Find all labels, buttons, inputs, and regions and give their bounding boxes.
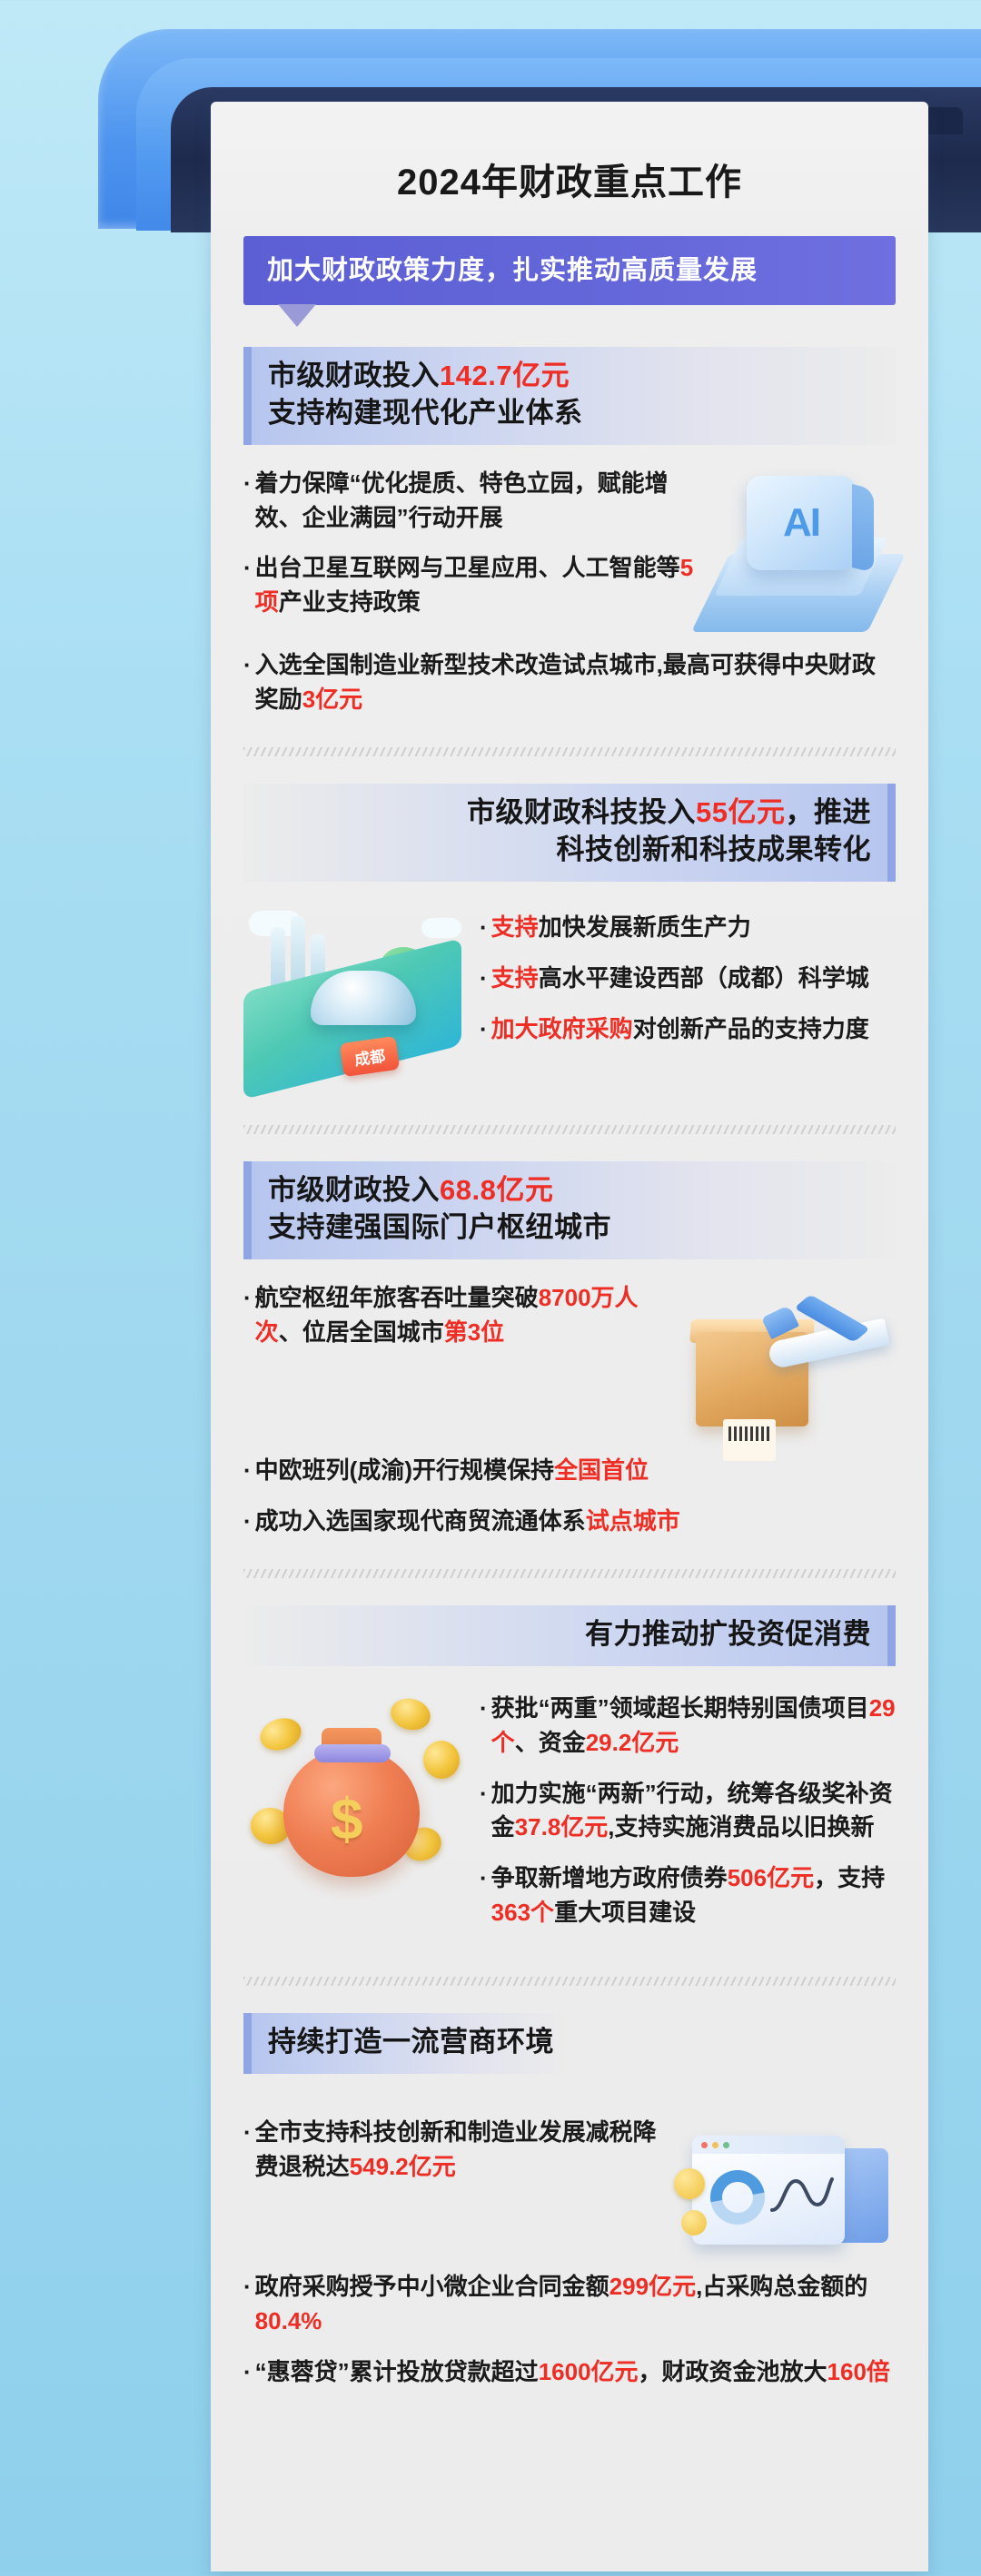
coin-icon [256,1713,305,1756]
list-item: · “惠蓉贷”累计投放贷款超过1600亿元，财政资金池放大160倍 [243,2355,896,2390]
body-text: 中欧班列(成渝)开行规模保持 [255,1456,554,1484]
bullet-text: 成功入选国家现代商贸流通体系试点城市 [255,1505,896,1539]
bag-tie [314,1744,391,1762]
bullet-marker-icon: · [243,1454,252,1488]
list-item: · 争取新增地方政府债券506亿元，支持363个重大项目建设 [480,1861,896,1930]
bullet-marker-icon: · [480,1861,488,1896]
bullet-text: 政府采购授予中小微企业合同金额299亿元,占采购总金额的80.4% [255,2270,896,2338]
body-text: 获批“两重”领域超长期特别国债项目 [491,1694,869,1722]
section-hub: 市级财政投入68.8亿元 支持建强国际门户枢纽城市 · 航空枢纽年旅客吞吐量突破… [211,1161,928,1538]
highlight-value: 1600亿元 [539,2358,639,2385]
body-text: 产业支持政策 [279,588,421,616]
bullet-marker-icon: · [480,1692,488,1726]
highlight-value: 80.4% [255,2307,322,2334]
bullet-text: “惠蓉贷”累计投放贷款超过1600亿元，财政资金池放大160倍 [255,2355,896,2390]
ai-text-icon: AI [747,476,856,570]
bullet-marker-icon: · [243,2116,252,2150]
bullet-marker-icon: · [243,551,252,586]
bullet-text: 入选全国制造业新型技术改造试点城市,最高可获得中央财政奖励3亿元 [255,648,896,716]
poster-card: 2024年财政重点工作 加大财政政策力度，扎实推动高质量发展 市级财政投入142… [211,102,928,2571]
body-text: 高水平建设西部（成都）科学城 [539,964,869,992]
bullet-marker-icon: · [480,911,488,945]
body-text: 出台卫星互联网与卫星应用、人工智能等 [255,554,680,581]
section-divider [243,1569,896,1578]
list-item: · 出台卫星互联网与卫星应用、人工智能等5项产业支持政策 [243,551,696,619]
list-item: · 政府采购授予中小微企业合同金额299亿元,占采购总金额的80.4% [243,2270,896,2338]
heading-line2: 科技创新和科技成果转化 [557,834,872,865]
body-text: 政府采购授予中小微企业合同金额 [255,2273,609,2300]
body-text: ,支持实施消费品以旧换新 [608,1813,874,1841]
bullet-list-hub-cont: · 中欧班列(成渝)开行规模保持全国首位 · 成功入选国家现代商贸流通体系试点城… [243,1454,896,1538]
dollar-sign-icon: $ [331,1790,363,1848]
bullet-text: 中欧班列(成渝)开行规模保持全国首位 [255,1454,896,1488]
body-text: 、资金 [515,1729,586,1756]
section-heading-business: 持续打造一流营商环境 [243,2013,569,2074]
bullet-text: 支持高水平建设西部（成都）科学城 [491,962,896,996]
body-text: 对创新产品的支持力度 [633,1015,869,1042]
body-text: 成功入选国家现代商贸流通体系 [255,1507,586,1535]
highlight-value: 试点城市 [586,1507,680,1535]
money-bag-icon: $ [243,1688,471,1897]
page-title: 2024年财政重点工作 [211,102,928,236]
bullet-text: 获批“两重”领域超长期特别国债项目29个、资金29.2亿元 [491,1692,896,1760]
heading-line2: 支持构建现代化产业体系 [268,397,583,429]
airplane-icon [758,1290,894,1390]
section-heading-science: 市级财政科技投入55亿元，推进 科技创新和科技成果转化 [243,784,896,882]
highlight-value: 506亿元 [728,1864,814,1891]
chart-window-icon [687,2116,896,2270]
body-text: 重大项目建设 [554,1899,696,1926]
bullet-marker-icon: · [243,1505,252,1539]
bullet-marker-icon: · [243,2270,252,2305]
cloud-icon [421,918,461,938]
section-invest: 有力推动扩投资促消费 $ · [211,1605,928,1946]
list-item: · 加力实施“两新”行动，统筹各级奖补资金37.8亿元,支持实施消费品以旧换新 [480,1777,896,1845]
highlight-value: 29.2亿元 [586,1729,679,1756]
ai-cube-icon: AI [705,467,896,648]
section-heading-hub: 市级财政投入68.8亿元 支持建强国际门户枢纽城市 [243,1161,896,1259]
heading-amount: 55亿元 [696,796,785,828]
body-text: ，财政资金池放大 [639,2358,827,2385]
list-item: · 全市支持科技创新和制造业发展减税降费退税达549.2亿元 [243,2116,678,2184]
heading-line2: 有力推动扩投资促消费 [585,1618,871,1650]
section-divider [243,747,896,756]
section-divider [243,1125,896,1134]
heading-amount: 68.8亿元 [440,1174,553,1206]
plane-tail [761,1305,799,1339]
bullet-list-invest: · 获批“两重”领域超长期特别国债项目29个、资金29.2亿元 · 加力实施“两… [480,1692,896,1930]
highlight-value: 160倍 [827,2358,890,2385]
list-item: · 加大政府采购对创新产品的支持力度 [480,1012,896,1047]
list-item: · 中欧班列(成渝)开行规模保持全国首位 [243,1454,896,1488]
bullet-text: 支持加快发展新质生产力 [491,911,896,945]
body-text: 着力保障“优化提质、特色立园，赋能增效、企业满园”行动开展 [255,469,669,531]
bullet-text: 全市支持科技创新和制造业发展减税降费退税达549.2亿元 [255,2116,678,2184]
highlight-value: 全国首位 [554,1456,649,1484]
bullet-text: 加力实施“两新”行动，统筹各级奖补资金37.8亿元,支持实施消费品以旧换新 [491,1777,896,1845]
bullet-marker-icon: · [480,1012,488,1047]
coin-icon [421,1739,461,1781]
heading-line2: 持续打造一流营商环境 [268,2026,554,2058]
bullet-list-industry-cont: · 入选全国制造业新型技术改造试点城市,最高可获得中央财政奖励3亿元 [243,648,896,716]
bullet-marker-icon: · [243,2355,252,2390]
highlight-value: 加大政府采购 [491,1015,633,1042]
heading-prefix: 市级财政投入 [268,360,440,391]
barcode-label-icon [723,1419,776,1461]
bullet-text: 航空枢纽年旅客吞吐量突破8700万人次、位居全国城市第3位 [255,1281,678,1349]
list-item: · 获批“两重”领域超长期特别国债项目29个、资金29.2亿元 [480,1692,896,1760]
highlight-value: 支持 [491,913,539,941]
section-business: 持续打造一流营商环境 · 全市支持科技创新和制造业发展减税降费退税达549.2亿… [211,2013,928,2389]
section-science: 市级财政科技投入55亿元，推进 科技创新和科技成果转化 成都 [211,784,928,1094]
science-city-icon: 成都 [243,903,471,1094]
highlight-value: 37.8亿元 [515,1813,609,1841]
list-item: · 着力保障“优化提质、特色立园，赋能增效、企业满园”行动开展 [243,467,696,535]
bullet-list-industry: · 着力保障“优化提质、特色立园，赋能增效、企业满园”行动开展 · 出台卫星互联… [243,467,696,620]
highlight-value: 363个 [491,1899,554,1926]
section-industry: 市级财政投入142.7亿元 支持构建现代化产业体系 · 着力保障“优化提质、特色… [211,347,928,716]
list-item: · 支持加快发展新质生产力 [480,911,896,945]
list-item: · 成功入选国家现代商贸流通体系试点城市 [243,1505,896,1539]
heading-prefix: 市级财政科技投入 [467,796,696,828]
section-heading-invest: 有力推动扩投资促消费 [243,1605,896,1666]
bullet-list-hub: · 航空枢纽年旅客吞吐量突破8700万人次、位居全国城市第3位 [243,1281,678,1349]
cargo-plane-icon [687,1281,896,1454]
highlight-value: 支持 [491,964,539,992]
heading-line2: 支持建强国际门户枢纽城市 [268,1211,611,1243]
highlight-value: 第3位 [444,1318,504,1346]
bullet-marker-icon: · [243,648,252,683]
coin-icon [388,1695,434,1735]
main-banner: 加大财政政策力度，扎实推动高质量发展 [243,236,896,305]
highlight-value: 549.2亿元 [350,2153,456,2180]
bullet-list-business: · 全市支持科技创新和制造业发展减税降费退税达549.2亿元 [243,2116,678,2184]
list-item: · 航空枢纽年旅客吞吐量突破8700万人次、位居全国城市第3位 [243,1281,678,1349]
highlight-value: 3亿元 [302,686,362,713]
bullet-marker-icon: · [480,962,488,996]
body-text: 航空枢纽年旅客吞吐量突破 [255,1284,539,1311]
city-tag-label: 成都 [340,1036,401,1077]
bullet-marker-icon: · [243,1281,252,1316]
section-heading-industry: 市级财政投入142.7亿元 支持构建现代化产业体系 [243,347,896,445]
bullet-marker-icon: · [243,467,252,501]
highlight-value: 299亿元 [609,2273,696,2300]
body-text: 加快发展新质生产力 [539,913,751,941]
bullet-text: 加大政府采购对创新产品的支持力度 [491,1012,896,1047]
body-text: “惠蓉贷”累计投放贷款超过 [255,2358,539,2385]
body-text: ,占采购总金额的 [696,2273,867,2300]
section-divider [243,1977,896,1986]
banner-arrow-icon [278,304,316,327]
bullet-list-business-cont: · 政府采购授予中小微企业合同金额299亿元,占采购总金额的80.4% · “惠… [243,2270,896,2389]
body-text: 、位居全国城市 [279,1318,444,1346]
list-item: · 支持高水平建设西部（成都）科学城 [480,962,896,996]
bullet-text: 争取新增地方政府债券506亿元，支持363个重大项目建设 [491,1861,896,1930]
banner-wrapper: 加大财政政策力度，扎实推动高质量发展 [211,236,928,305]
body-text: ，支持 [814,1864,885,1891]
body-text: 争取新增地方政府债券 [491,1864,728,1891]
bullet-list-science: · 支持加快发展新质生产力 · 支持高水平建设西部（成都）科学城 · 加大政府采… [480,911,896,1046]
bullet-text: 出台卫星互联网与卫星应用、人工智能等5项产业支持政策 [255,551,696,619]
heading-suffix: ，推进 [786,796,872,828]
list-item: · 入选全国制造业新型技术改造试点城市,最高可获得中央财政奖励3亿元 [243,648,896,716]
bullet-marker-icon: · [480,1777,488,1811]
bullet-text: 着力保障“优化提质、特色立园，赋能增效、企业满园”行动开展 [255,467,696,535]
line-chart-icon [770,2172,834,2217]
heading-prefix: 市级财政投入 [268,1174,440,1206]
heading-amount: 142.7亿元 [440,360,570,391]
